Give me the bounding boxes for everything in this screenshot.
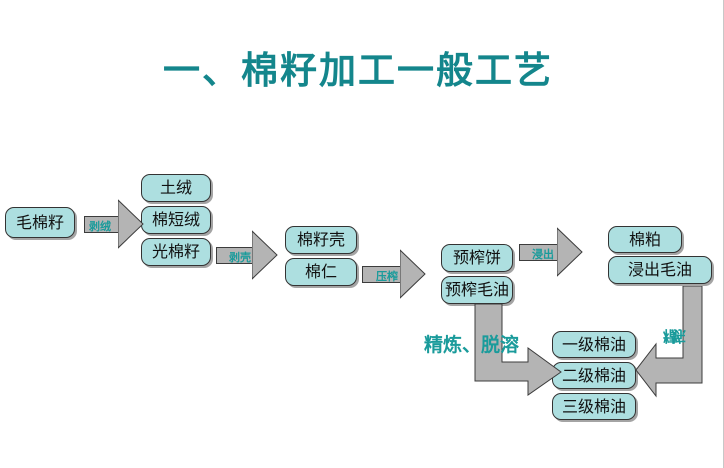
node-bare-seed[interactable]: 光棉籽: [141, 238, 211, 266]
page-title: 一、棉籽加工一般工艺: [0, 40, 716, 94]
node-kernel[interactable]: 棉仁: [285, 258, 357, 286]
node-short-lint[interactable]: 棉短绒: [141, 206, 211, 234]
label-extraction: 浸出: [532, 246, 554, 262]
node-press-cake[interactable]: 预榨饼: [441, 244, 513, 272]
label-refining-right: 精炼: [663, 326, 679, 347]
label-dehulling: 剥壳: [229, 249, 251, 265]
label-pressing: 压榨: [376, 268, 398, 284]
arrow-delinting-head: [118, 196, 144, 252]
node-seed-hull[interactable]: 棉籽壳: [285, 226, 357, 254]
node-extract-oil[interactable]: 浸出毛油: [608, 256, 712, 284]
slide-canvas: 一、棉籽加工一般工艺 毛棉籽 剥绒 土绒 棉短绒 光棉籽 剥壳 棉籽壳 棉仁 压…: [0, 0, 724, 468]
node-meal[interactable]: 棉粕: [608, 226, 682, 253]
label-delinting: 剥绒: [89, 218, 111, 234]
node-soil-lint[interactable]: 土绒: [141, 174, 211, 202]
node-press-oil[interactable]: 预榨毛油: [441, 276, 513, 304]
arrow-dehulling-head: [252, 227, 278, 283]
label-refining-desolventizing: 精炼、脱溶: [424, 330, 519, 357]
node-raw-seed[interactable]: 毛棉籽: [5, 207, 75, 238]
node-oil-grade-3[interactable]: 三级棉油: [552, 393, 636, 420]
arrow-extraction-head: [557, 224, 583, 280]
arrow-pressing-head: [400, 246, 426, 302]
